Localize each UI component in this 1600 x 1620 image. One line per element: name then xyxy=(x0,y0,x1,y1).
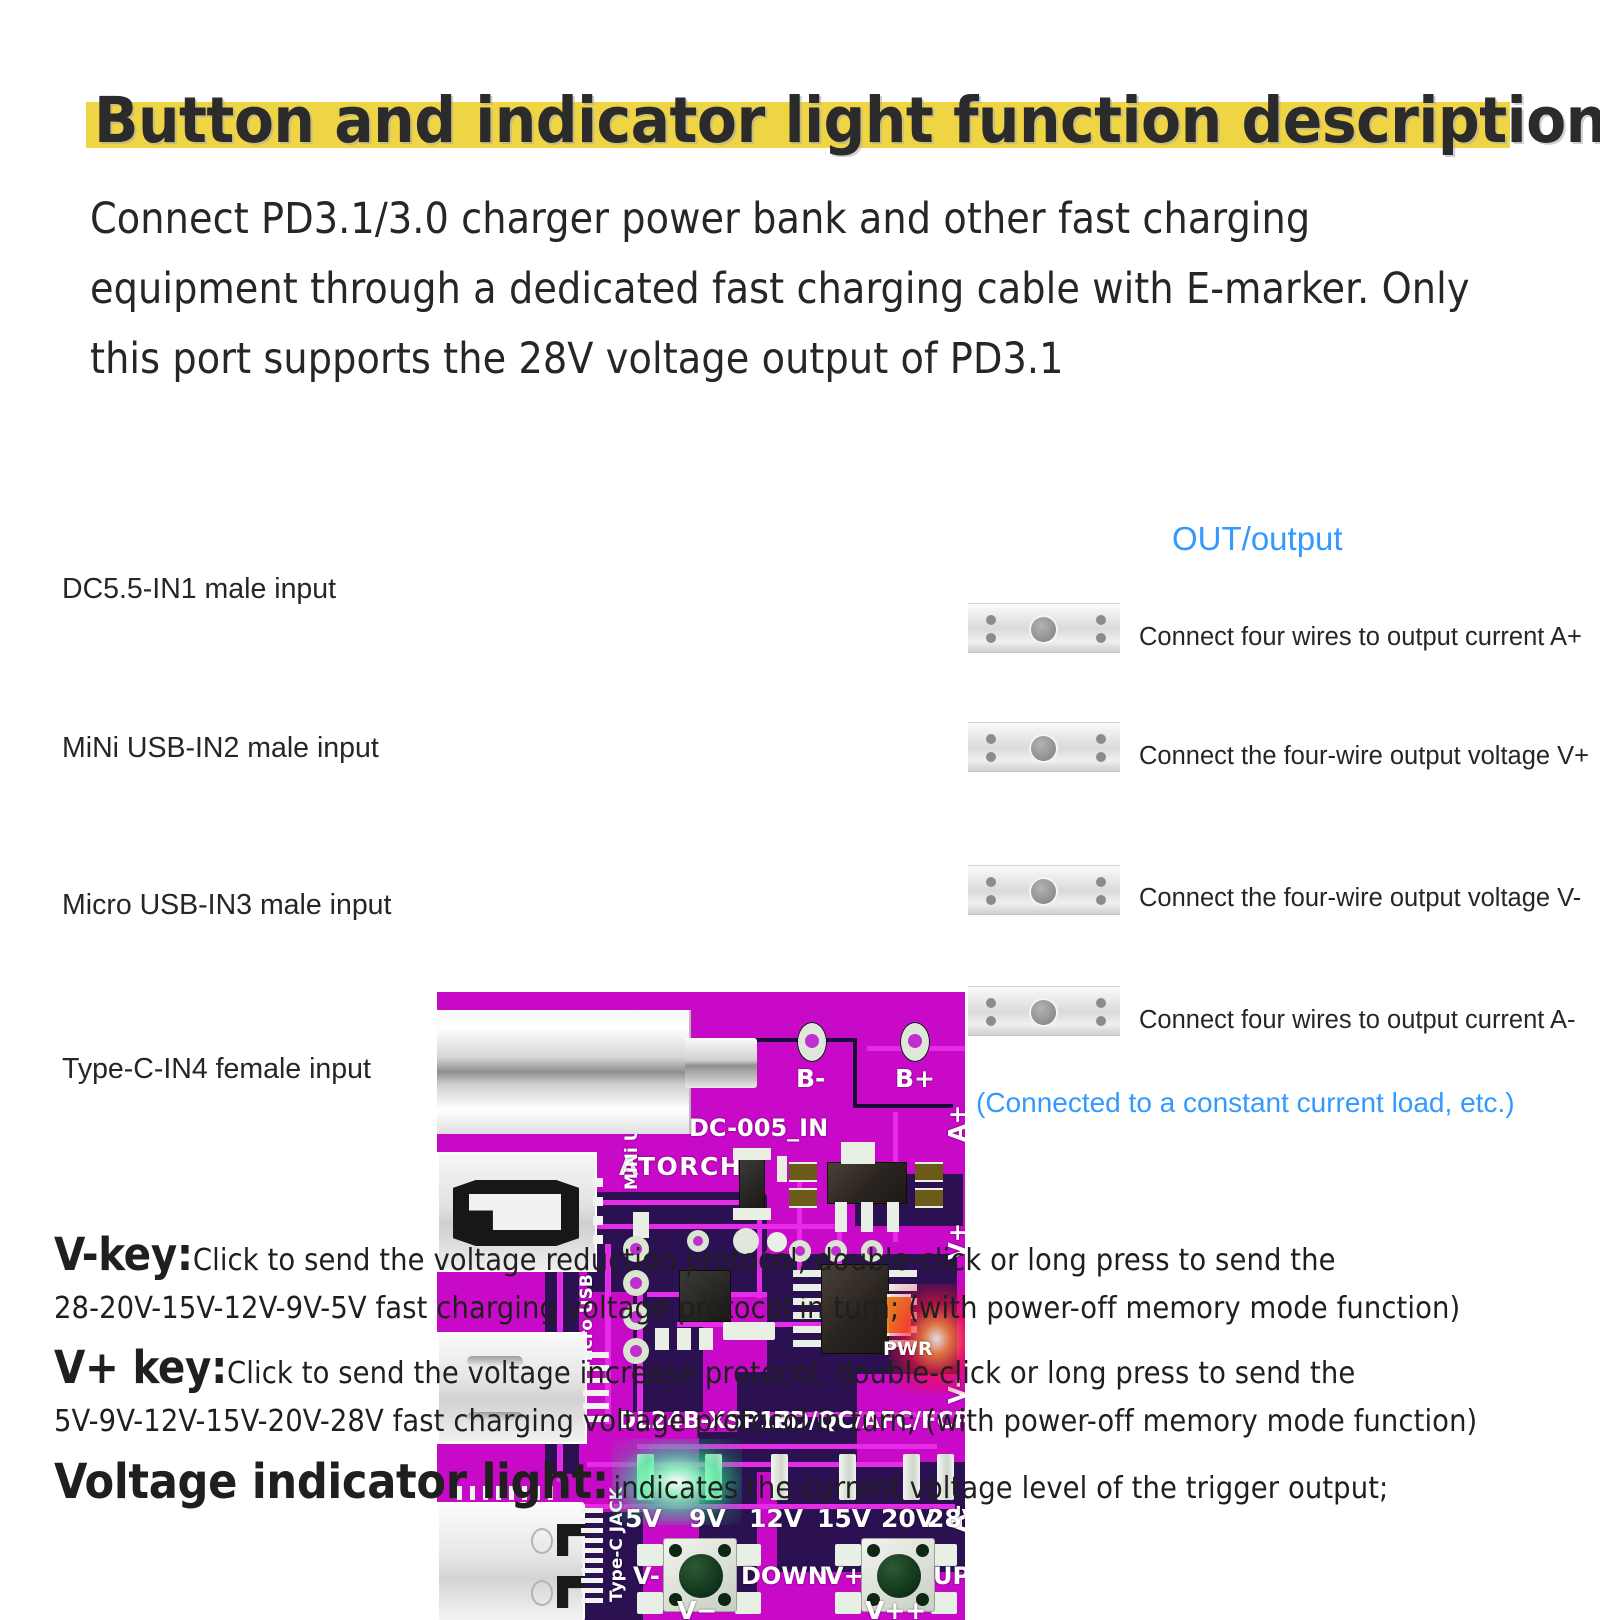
key-cont-v-minus: 28-20V-15V-12V-9V-5V fast charging volta… xyxy=(54,1281,1554,1337)
pad-b-plus xyxy=(900,1022,930,1062)
key-body-voltage-indicator: indicates the current voltage level of t… xyxy=(613,1471,1388,1506)
silk-btn-down: DOWN xyxy=(741,1562,828,1590)
key-body-v-plus: Click to send the voltage increase proto… xyxy=(227,1356,1355,1391)
intro-paragraph: Connect PD3.1/3.0 charger power bank and… xyxy=(90,185,1510,395)
silk-dc-005-in: DC-005_IN xyxy=(689,1114,828,1142)
page-header: Button and indicator light function desc… xyxy=(0,44,1600,152)
label-typec-in4: Type-C-IN4 female input xyxy=(62,1053,371,1086)
label-micro-usb-in3: Micro USB-IN3 male input xyxy=(62,889,391,922)
key-function-descriptions: V-key:Click to send the voltage reductio… xyxy=(54,1228,1554,1514)
label-mini-usb-in2: MiNi USB-IN2 male input xyxy=(62,732,379,765)
terminal-block-v-plus[interactable] xyxy=(968,722,1120,772)
constant-load-note: (Connected to a constant current load, e… xyxy=(976,1087,1515,1119)
component-transistor xyxy=(739,1158,765,1210)
key-head-v-plus: V+ key: xyxy=(54,1341,227,1394)
dc-barrel-jack xyxy=(437,1010,691,1134)
key-cont-v-plus: 5V-9V-12V-15V-20V-28V fast charging volt… xyxy=(54,1394,1554,1450)
silk-b-minus: B- xyxy=(796,1064,825,1093)
terminal-block-a-minus[interactable] xyxy=(968,986,1120,1036)
label-output-v-minus: Connect the four-wire output voltage V- xyxy=(1139,884,1581,913)
key-head-v-minus: V-key: xyxy=(54,1228,193,1281)
dc-barrel-jack-nose xyxy=(685,1038,757,1088)
key-description-v-minus: V-key:Click to send the voltage reductio… xyxy=(54,1228,1554,1337)
silk-btn-v-minus: V- xyxy=(633,1562,660,1590)
terminal-block-a-plus[interactable] xyxy=(968,603,1120,653)
typec-connector xyxy=(437,1502,585,1620)
label-dc55-in1: DC5.5-IN1 male input xyxy=(62,573,336,606)
board-diagram: OUT/output DC5.5-IN1 male input MiNi USB… xyxy=(0,480,1600,1180)
silk-btn-up: UP xyxy=(933,1562,965,1590)
pad-b-minus xyxy=(797,1022,827,1062)
label-output-a-plus: Connect four wires to output current A+ xyxy=(1139,623,1582,652)
silk-btn-v-plus: V+ xyxy=(825,1562,864,1590)
component-regulator xyxy=(827,1162,907,1204)
silk-edge-a-plus: A+ xyxy=(945,1105,965,1142)
key-head-voltage-indicator: Voltage indicator light: xyxy=(54,1454,609,1510)
key-description-voltage-indicator: Voltage indicator light: indicates the c… xyxy=(54,1454,1554,1510)
label-output-v-plus: Connect the four-wire output voltage V+ xyxy=(1139,742,1589,771)
key-description-v-plus: V+ key:Click to send the voltage increas… xyxy=(54,1341,1554,1450)
silk-b-plus: B+ xyxy=(895,1064,935,1093)
page-title: Button and indicator light function desc… xyxy=(94,84,1557,157)
key-body-v-minus: Click to send the voltage reduction prot… xyxy=(193,1243,1336,1278)
out-output-label: OUT/output xyxy=(1172,520,1343,558)
label-output-a-minus: Connect four wires to output current A- xyxy=(1139,1006,1576,1035)
terminal-block-v-minus[interactable] xyxy=(968,865,1120,915)
